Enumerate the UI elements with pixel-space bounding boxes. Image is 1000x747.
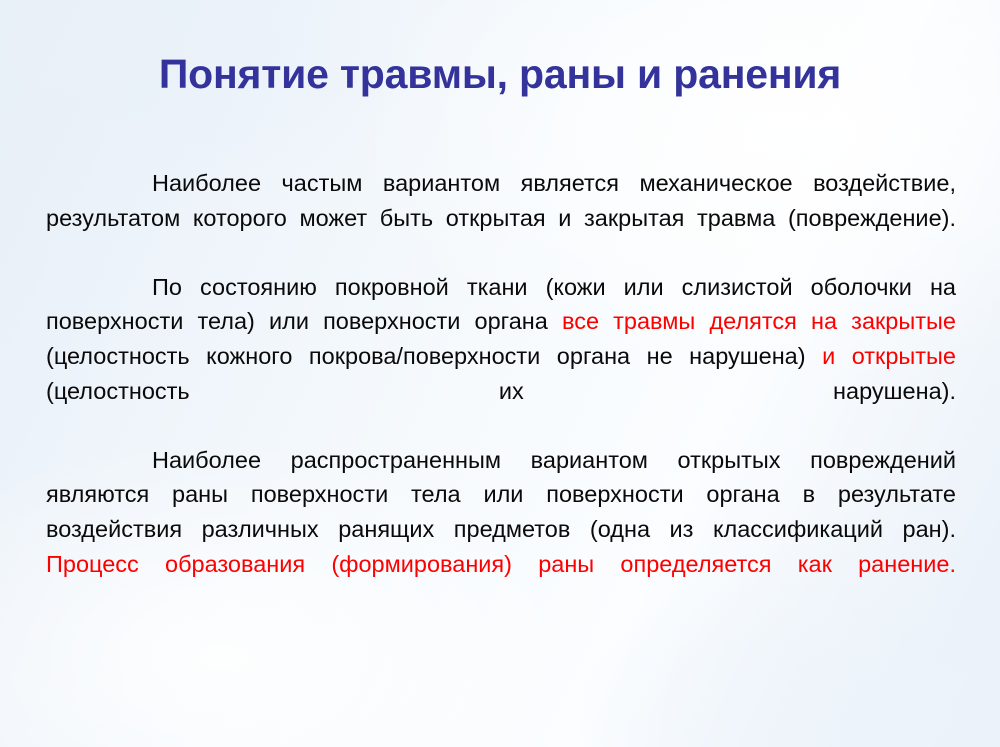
body-paragraph-2: По состоянию покровной ткани (кожи или с…	[46, 270, 956, 443]
paragraph-1-run-1: Наиболее частым вариантом является механ…	[46, 170, 956, 231]
body-paragraph-1: Наиболее частым вариантом является механ…	[46, 166, 956, 270]
paragraph-2-run-5: (целостность их нарушена).	[46, 378, 956, 404]
paragraph-3-run-2-highlight: Процесс образования (формирования) раны …	[46, 551, 956, 577]
slide-title: Понятие травмы, раны и ранения	[0, 52, 1000, 97]
presentation-slide: Понятие травмы, раны и ранения Наиболее …	[0, 0, 1000, 747]
paragraph-2-run-4-highlight: и открытые	[806, 343, 956, 369]
slide-body: Наиболее частым вариантом является механ…	[46, 166, 956, 616]
paragraph-3-run-1: Наиболее распространенным вариантом откр…	[46, 447, 956, 542]
paragraph-2-run-3: (целостность кожного покрова/поверхности…	[46, 343, 806, 369]
body-paragraph-3: Наиболее распространенным вариантом откр…	[46, 443, 956, 616]
paragraph-2-run-2-highlight: все травмы делятся на закрытые	[562, 308, 956, 334]
